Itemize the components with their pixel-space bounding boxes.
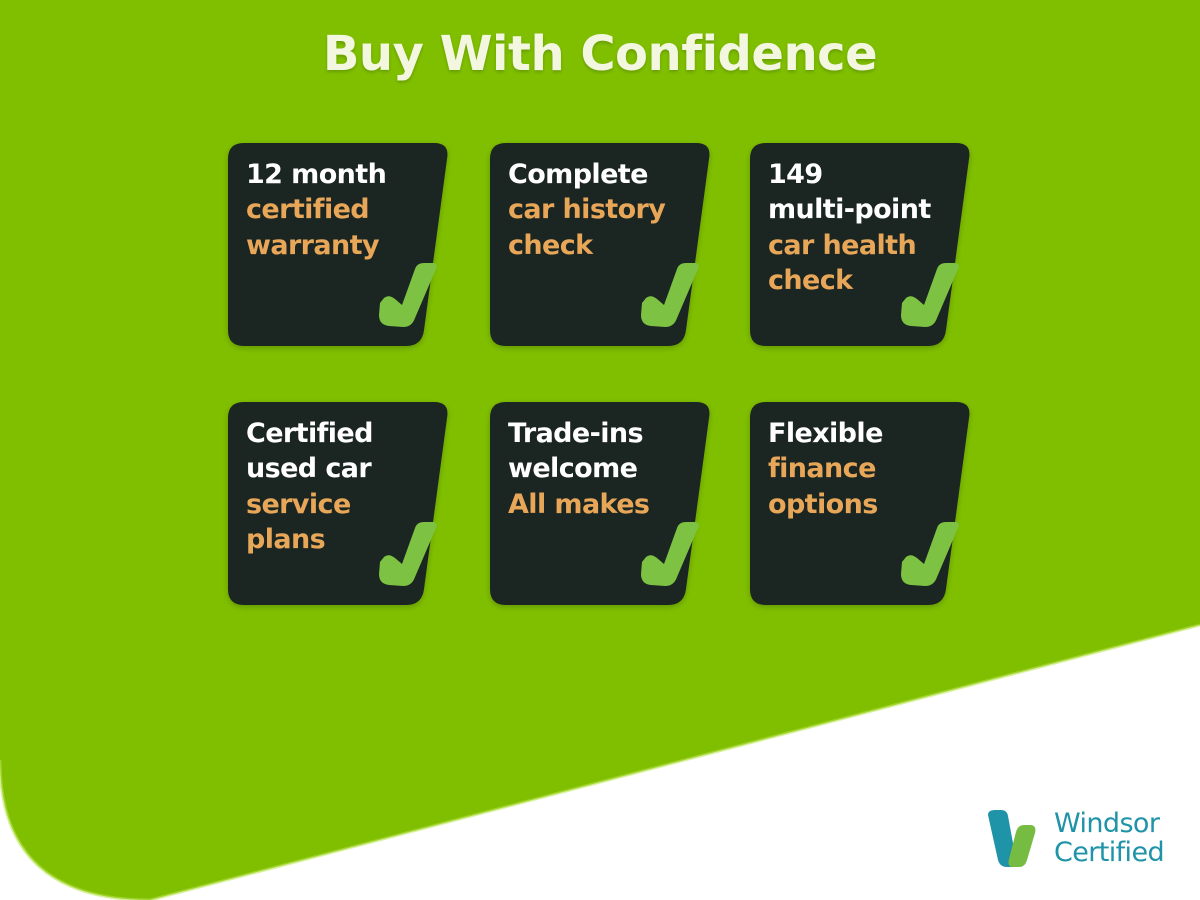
logo-wordmark: Windsor Certified [1054, 810, 1164, 867]
feature-card[interactable]: Complete car history check [490, 143, 718, 346]
card-fill [490, 402, 709, 605]
card-fill [750, 402, 969, 605]
brand-logo: Windsor Certified [983, 810, 1164, 868]
card-fill [750, 143, 969, 346]
feature-card[interactable]: Flexible finance options [750, 402, 978, 605]
card-shape [228, 402, 456, 605]
card-fill [228, 402, 447, 605]
feature-card[interactable]: Certified used car service plans [228, 402, 456, 605]
card-fill [228, 143, 447, 346]
logo-line-certified: Certified [1054, 839, 1164, 868]
card-shape [228, 143, 456, 346]
windsor-w-icon [983, 810, 1045, 868]
page-title: Buy With Confidence [0, 26, 1200, 82]
feature-card-grid: 12 month certified warranty Complete car… [228, 143, 978, 605]
logo-line-windsor: Windsor [1054, 810, 1164, 839]
card-shape [490, 143, 718, 346]
feature-card[interactable]: 149 multi-point car health check [750, 143, 978, 346]
card-shape [490, 402, 718, 605]
card-shape [750, 402, 978, 605]
feature-card[interactable]: 12 month certified warranty [228, 143, 456, 346]
feature-card[interactable]: Trade-ins welcome All makes [490, 402, 718, 605]
card-shape [750, 143, 978, 346]
card-fill [490, 143, 709, 346]
